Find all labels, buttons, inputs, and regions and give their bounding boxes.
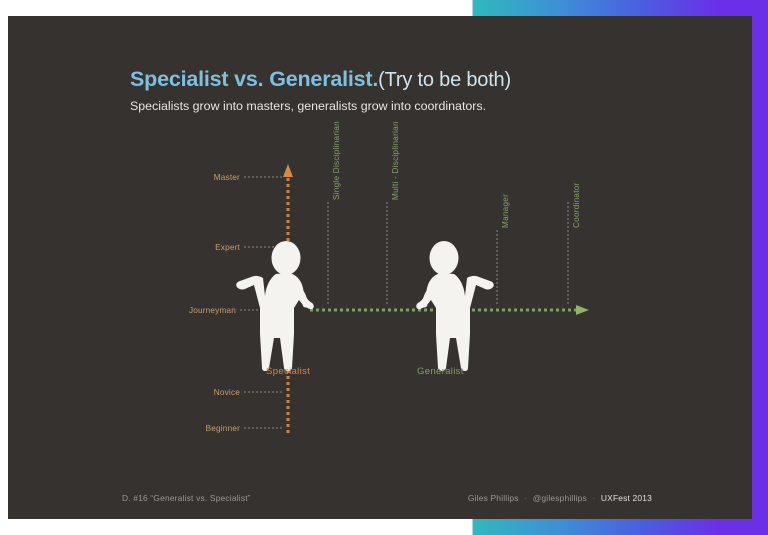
diagram: Master Expert Journeyman Novice Beginner… [8, 16, 752, 519]
footer: D. #16 “Generalist vs. Specialist” Giles… [8, 479, 752, 519]
level-label-beginner: Beginner [128, 424, 240, 433]
breadth-label-coordinator: Coordinator [572, 182, 581, 228]
slide-canvas: Specialist vs. Generalist.(Try to be bot… [8, 16, 752, 519]
footer-event: UXFest 2013 [601, 493, 652, 503]
breadth-label-manager: Manager [501, 194, 510, 228]
top-gradient-border [0, 0, 768, 16]
vertical-axis-arrow-icon [283, 164, 293, 177]
level-label-expert: Expert [128, 243, 240, 252]
footer-separator-1: · [521, 493, 530, 503]
footer-credits: Giles Phillips · @gilesphillips · UXFest… [468, 493, 652, 503]
slide-frame: Specialist vs. Generalist.(Try to be bot… [0, 0, 768, 535]
level-label-master: Master [128, 173, 240, 182]
horizontal-axis-arrow-icon [576, 305, 589, 315]
level-label-journeyman: Journeyman [124, 306, 236, 315]
footer-deck-label: D. #16 “Generalist vs. Specialist” [122, 493, 251, 503]
footer-handle: @gilesphillips [533, 493, 587, 503]
specialist-figure [236, 241, 313, 371]
generalist-caption: Generalist [417, 366, 464, 377]
breadth-label-multi-disciplinarian: Multi - Disciplinarian [391, 121, 400, 200]
generalist-figure [416, 241, 493, 371]
footer-separator-2: · [589, 493, 598, 503]
level-label-novice: Novice [128, 388, 240, 397]
diagram-graphics [8, 16, 752, 519]
breadth-label-single-disciplinarian: Single Disciplinarian [332, 121, 341, 200]
right-border [752, 0, 768, 535]
footer-author: Giles Phillips [468, 493, 519, 503]
specialist-caption: Specialist [266, 366, 310, 377]
bottom-gradient-border [0, 519, 768, 535]
